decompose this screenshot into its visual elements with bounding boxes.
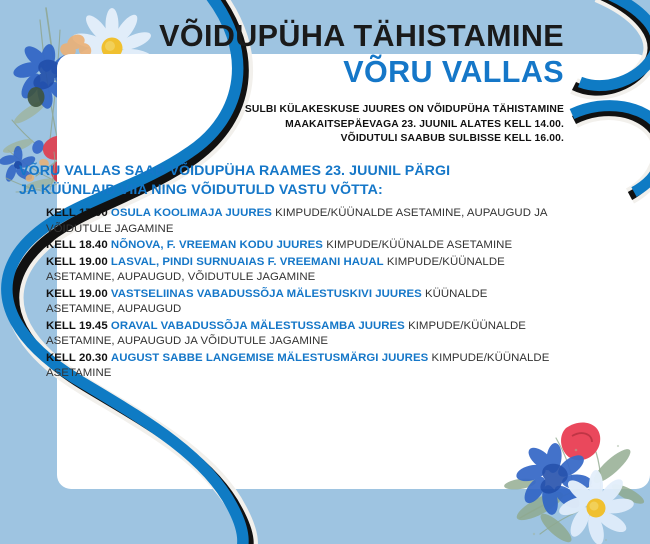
event-place: LASVAL, PINDI SURNUAIAS F. VREEMANI HAUA… <box>111 256 384 268</box>
page-subtitle: VÕRU VALLAS <box>140 55 564 89</box>
intro-line-2: MAAKAITSEPÄEVAGA 23. JUUNIL ALATES KELL … <box>140 118 564 133</box>
event-time: KELL 20.30 <box>46 352 108 364</box>
event-item: KELL 19.00 LASVAL, PINDI SURNUAIAS F. VR… <box>46 255 551 286</box>
event-time: KELL 17.00 <box>46 207 108 219</box>
event-place: AUGUST SABBE LANGEMISE MÄLESTUSMÄRGI JUU… <box>111 352 428 364</box>
event-item: KELL 17.00 OSULA KOOLIMAJA JUURES KIMPUD… <box>46 206 551 237</box>
intro-line-1: SULBI KÜLAKESKUSE JUURES ON VÕIDUPÜHA TÄ… <box>140 103 564 118</box>
event-list: KELL 17.00 OSULA KOOLIMAJA JUURES KIMPUD… <box>46 206 551 383</box>
poster-text-layer: VÕIDUPÜHA TÄHISTAMINE VÕRU VALLAS SULBI … <box>0 0 650 544</box>
event-place: NÕNOVA, F. VREEMAN KODU JUURES <box>111 239 323 251</box>
poster-canvas: VÕIDUPÜHA TÄHISTAMINE VÕRU VALLAS SULBI … <box>0 0 650 544</box>
event-time: KELL 19.45 <box>46 320 108 332</box>
intro-text: SULBI KÜLAKESKUSE JUURES ON VÕIDUPÜHA TÄ… <box>140 103 564 147</box>
event-item: KELL 20.30 AUGUST SABBE LANGEMISE MÄLEST… <box>46 351 551 382</box>
page-title: VÕIDUPÜHA TÄHISTAMINE <box>140 20 564 52</box>
lead-line-2: JA KÜÜNLAID VIIA NING VÕIDUTULD VASTU VÕ… <box>19 181 579 200</box>
event-detail: KIMPUDE/KÜÜNALDE ASETAMINE <box>326 239 512 251</box>
event-place: VASTSELIINAS VABADUSSÕJA MÄLESTUSKIVI JU… <box>111 288 422 300</box>
event-time: KELL 19.00 <box>46 256 108 268</box>
lead-paragraph: VÕRU VALLAS SAAB VÕIDUPÜHA RAAMES 23. JU… <box>19 162 579 200</box>
event-place: ORAVAL VABADUSSÕJA MÄLESTUSSAMBA JUURES <box>111 320 405 332</box>
event-item: KELL 18.40 NÕNOVA, F. VREEMAN KODU JUURE… <box>46 238 551 254</box>
lead-line-1: VÕRU VALLAS SAAB VÕIDUPÜHA RAAMES 23. JU… <box>19 162 579 181</box>
event-time: KELL 18.40 <box>46 239 108 251</box>
event-time: KELL 19.00 <box>46 288 108 300</box>
event-item: KELL 19.00 VASTSELIINAS VABADUSSÕJA MÄLE… <box>46 287 551 318</box>
event-place: OSULA KOOLIMAJA JUURES <box>111 207 272 219</box>
event-item: KELL 19.45 ORAVAL VABADUSSÕJA MÄLESTUSSA… <box>46 319 551 350</box>
poster-header: VÕIDUPÜHA TÄHISTAMINE VÕRU VALLAS SULBI … <box>140 20 564 147</box>
intro-line-3: VÕIDUTULI SAABUB SULBISSE KELL 16.00. <box>140 132 564 147</box>
